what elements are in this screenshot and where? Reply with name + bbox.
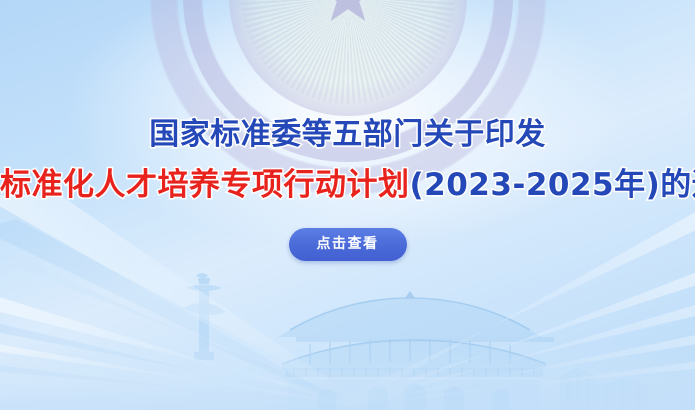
view-details-button[interactable]: 点击查看 bbox=[289, 228, 407, 261]
banner-title-highlight: 标准化人才培养专项行动计划 bbox=[0, 167, 410, 203]
tiananmen-silhouette-icon bbox=[0, 260, 695, 410]
notice-banner: 国家标准委等五部门关于印发 标准化人才培养专项行动计划(2023-2025年)的… bbox=[0, 0, 695, 410]
banner-title-line-2: 标准化人才培养专项行动计划(2023-2025年)的通知 bbox=[0, 170, 695, 201]
banner-title-line-1: 国家标准委等五部门关于印发 bbox=[0, 120, 695, 150]
banner-content: 国家标准委等五部门关于印发 标准化人才培养专项行动计划(2023-2025年)的… bbox=[0, 0, 695, 261]
cta-container: 点击查看 bbox=[0, 228, 695, 261]
bottom-fade-overlay bbox=[0, 340, 695, 410]
banner-title-suffix: (2023-2025年)的通知 bbox=[410, 167, 695, 203]
